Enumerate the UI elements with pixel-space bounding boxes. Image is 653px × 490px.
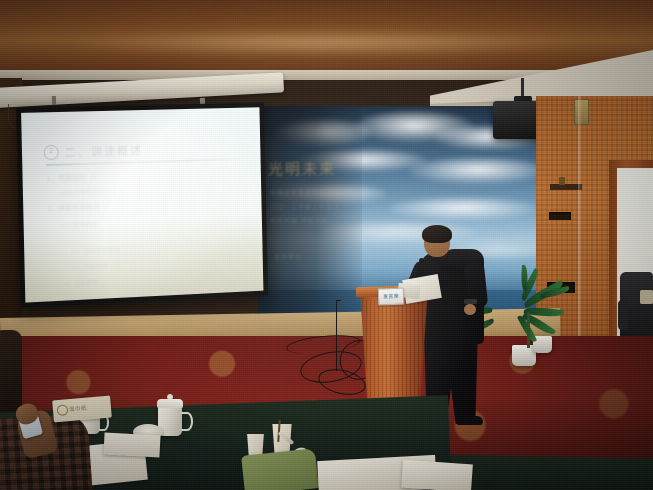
banner-sub-line: 合作共赢 开拓创新: [270, 216, 329, 225]
roller-bracket: [52, 96, 56, 105]
banner-sub-line: 二〇一三年度工作会议: [270, 202, 340, 211]
mug-lid[interactable]: [157, 399, 183, 408]
packet-label-text: 湿巾纸: [69, 404, 88, 414]
doorway-object: [640, 290, 653, 304]
wall-niche-upper: [549, 212, 571, 220]
shelf-object: [559, 177, 565, 185]
conference-room-photo: 光明未来 中国企业发展高峰论坛二〇一三年度工作会议合作共赢 开拓创新主办单位: [0, 0, 653, 490]
cloud-shape: [408, 158, 548, 184]
cloud-shape: [388, 198, 538, 220]
plant-stem: [527, 312, 530, 348]
backdrop-shadow-overlay: [258, 106, 362, 322]
podium-nameplate-text: 发言席: [383, 293, 399, 301]
green-folder[interactable]: [241, 448, 319, 490]
banner-sub-line: 中国企业发展高峰论坛: [270, 188, 340, 197]
packet-logo-icon: [57, 404, 69, 416]
mug-lid-knob: [167, 394, 173, 400]
microphone-head: [419, 258, 424, 263]
office-chair-armrest: [618, 300, 628, 330]
mug-handle: [181, 412, 193, 431]
banner-sub-line: 主办单位: [274, 252, 302, 261]
presenter-hair: [422, 225, 452, 243]
ceiling-light-reflection: [60, 30, 580, 56]
document-sheet[interactable]: [103, 433, 160, 458]
projector-hotspot-glow: [21, 107, 263, 302]
speaker-mount-rod: [521, 78, 524, 98]
document-sheet[interactable]: [401, 460, 473, 490]
projection-screen[interactable]: 2 二、调速概述 1、考察目的（）川古兰专科变化学企业2、调查样本情况（）（1）…: [16, 102, 268, 307]
presenter-hand-right: [464, 304, 476, 315]
podium-nameplate: 发言席: [378, 288, 405, 306]
banner-headline: 光明未来: [268, 158, 388, 180]
presenter-shoe-right: [456, 416, 483, 425]
